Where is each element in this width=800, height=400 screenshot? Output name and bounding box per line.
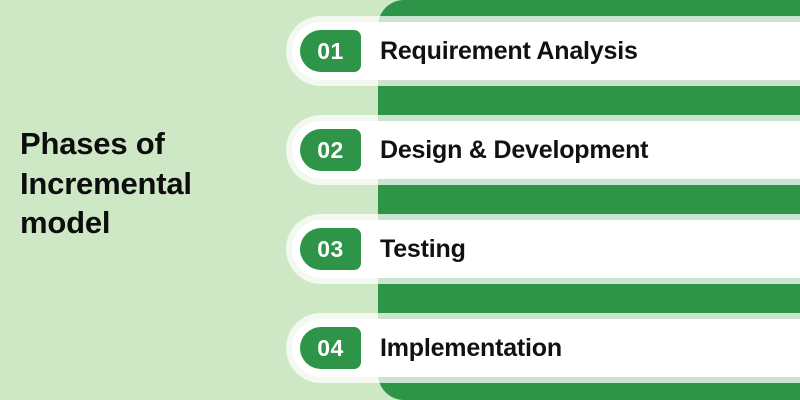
page-title-line-1: Phases of <box>20 124 270 164</box>
page-title: Phases of Incremental model <box>20 124 270 243</box>
phase-label: Testing <box>380 235 800 264</box>
phase-number-badge: 02 <box>300 129 361 171</box>
phase-number-badge: 04 <box>300 327 361 369</box>
phase-row: 03 Testing <box>292 220 800 278</box>
phase-label: Design & Development <box>380 136 800 165</box>
phase-row: 04 Implementation <box>292 319 800 377</box>
incremental-model-infographic: Phases of Incremental model 01 Requireme… <box>0 0 800 400</box>
phase-label: Implementation <box>380 334 800 363</box>
phase-number-badge: 01 <box>300 30 361 72</box>
page-title-line-3: model <box>20 203 270 243</box>
phase-label: Requirement Analysis <box>380 37 800 66</box>
phase-row: 02 Design & Development <box>292 121 800 179</box>
phase-number-badge: 03 <box>300 228 361 270</box>
page-title-line-2: Incremental <box>20 164 270 204</box>
phase-row: 01 Requirement Analysis <box>292 22 800 80</box>
